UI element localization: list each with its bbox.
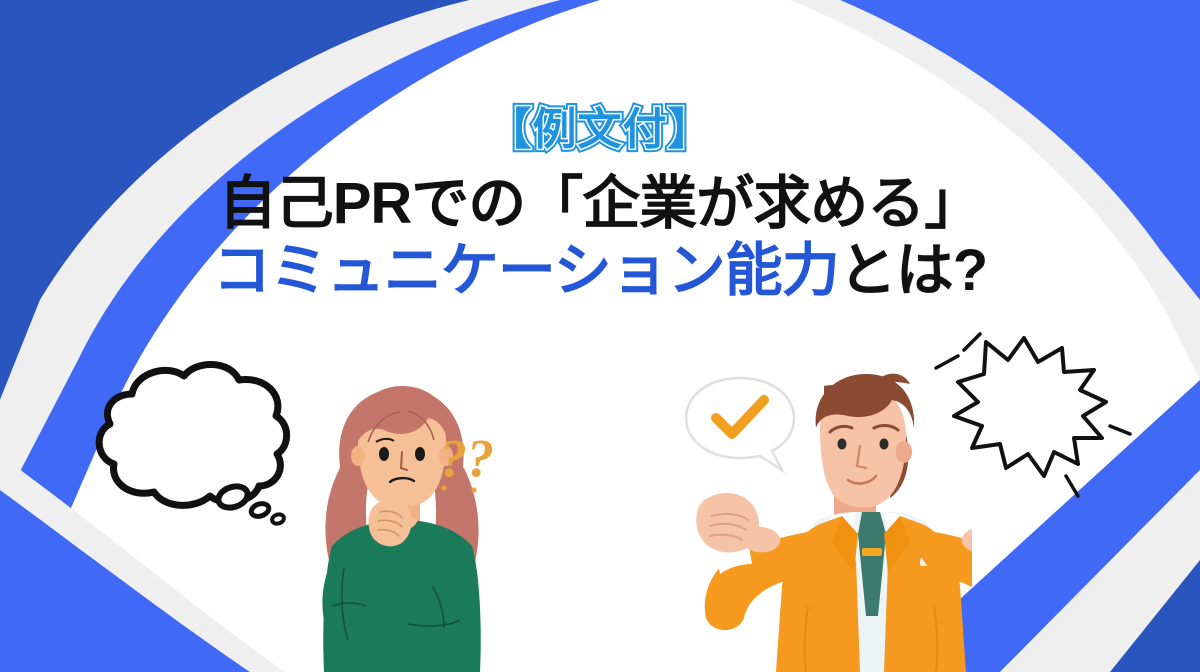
- man-confident-illustration: [672, 366, 972, 672]
- thought-cloud-outline: [99, 364, 286, 505]
- page-title-highlight: コミュニケーション能力: [213, 238, 839, 303]
- question-dot-1: [441, 485, 446, 490]
- thought-dot-2: [250, 502, 271, 519]
- burst-spoke-top-left-1: [964, 334, 980, 350]
- burst-outline: [954, 338, 1106, 476]
- question-marks-label: ??: [440, 428, 494, 488]
- woman-thinking-illustration: ??: [288, 378, 516, 672]
- page-title-line-1: 自己PRでの「企業が求める」: [0, 170, 1200, 238]
- thought-bubble-icon: [84, 358, 304, 533]
- thought-dot-3: [271, 513, 285, 525]
- man-ear: [896, 441, 912, 463]
- page-title-suffix: とは?: [839, 238, 987, 303]
- woman-hand: [368, 500, 411, 546]
- banner-canvas: 【例文付】 【例文付】 自己PRでの「企業が求める」 コミュニケーション能力とは…: [0, 0, 1200, 672]
- eyebrow-wrapper: 【例文付】 【例文付】: [488, 106, 713, 154]
- man-eye-left: [838, 439, 847, 450]
- woman-eye-right: [415, 447, 425, 461]
- burst-spoke-right: [1110, 426, 1130, 434]
- question-dot-2: [471, 487, 476, 492]
- page-title-line-2: コミュニケーション能力とは?: [0, 237, 1200, 305]
- man-thumb-left: [743, 526, 780, 552]
- man-tie-clip: [862, 548, 882, 556]
- burst-spoke-top-left-2: [936, 356, 958, 368]
- eyebrow-label: 【例文付】: [488, 106, 713, 154]
- title-block: 【例文付】 【例文付】 自己PRでの「企業が求める」 コミュニケーション能力とは…: [0, 106, 1200, 305]
- woman-eye-left: [379, 447, 389, 461]
- burst-speech-bubble-icon: [928, 328, 1133, 503]
- burst-spoke-bottom: [1066, 476, 1078, 496]
- woman-ear-left: [351, 446, 365, 466]
- man-eye-right: [880, 439, 889, 450]
